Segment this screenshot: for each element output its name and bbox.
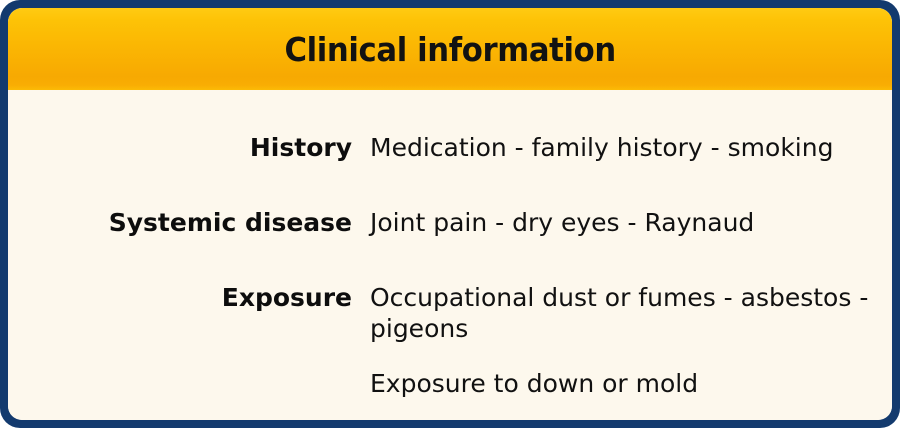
row-value-exposure: Occupational dust or fumes - asbestos - … bbox=[370, 282, 882, 399]
row-label-exposure: Exposure bbox=[8, 282, 370, 399]
row-value-line: Exposure to down or mold bbox=[370, 368, 874, 399]
row-label-systemic-disease: Systemic disease bbox=[8, 207, 370, 238]
row-spacer-cell bbox=[370, 238, 882, 282]
row-value-line: Medication - family history - smoking bbox=[370, 132, 874, 163]
row-value-systemic-disease: Joint pain - dry eyes - Raynaud bbox=[370, 207, 882, 238]
row-spacer-cell bbox=[8, 163, 370, 207]
card-body: History Medication - family history - sm… bbox=[8, 90, 892, 420]
page-title: Clinical information bbox=[284, 33, 615, 66]
clinical-information-card: Clinical information History Medication … bbox=[0, 0, 900, 428]
card-inner-panel: Clinical information History Medication … bbox=[8, 8, 892, 420]
row-value-line: Joint pain - dry eyes - Raynaud bbox=[370, 207, 874, 238]
row-value-history: Medication - family history - smoking bbox=[370, 132, 882, 163]
table-row: Systemic disease Joint pain - dry eyes -… bbox=[8, 207, 882, 238]
row-spacer bbox=[8, 238, 882, 282]
clinical-information-table: History Medication - family history - sm… bbox=[8, 132, 882, 399]
row-label-history: History bbox=[8, 132, 370, 163]
row-value-line: Occupational dust or fumes - asbestos - … bbox=[370, 282, 874, 344]
card-header: Clinical information bbox=[8, 8, 892, 90]
table-row: Exposure Occupational dust or fumes - as… bbox=[8, 282, 882, 399]
row-spacer-cell bbox=[370, 163, 882, 207]
row-spacer-cell bbox=[8, 238, 370, 282]
row-spacer bbox=[8, 163, 882, 207]
table-row: History Medication - family history - sm… bbox=[8, 132, 882, 163]
